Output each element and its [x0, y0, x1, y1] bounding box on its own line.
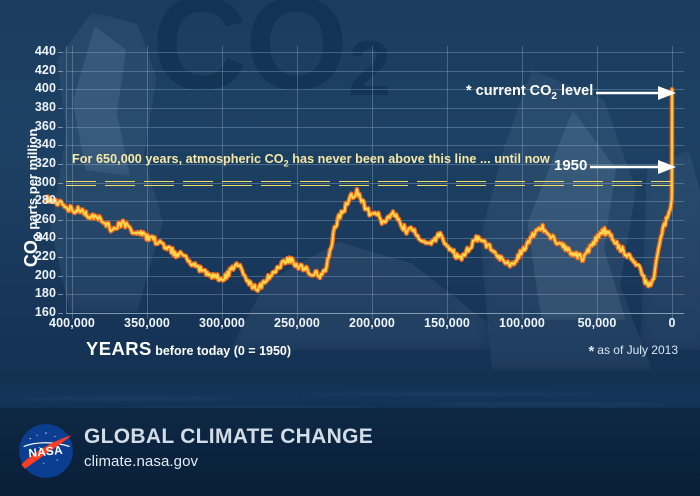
footer-background: [0, 408, 700, 496]
footer-title: GLOBAL CLIMATE CHANGE: [84, 425, 373, 449]
footnote-text: as of July 2013: [597, 343, 678, 357]
annotation-current-head: current CO: [472, 83, 552, 99]
threshold-dash-segment: [417, 181, 447, 186]
threshold-dash-segment: [183, 181, 213, 186]
y-axis-tick-mark: [58, 52, 63, 53]
annotation-current-tail: level: [557, 83, 593, 99]
y-axis-title-co2: CO2: [21, 233, 41, 267]
co2-line-outer-stroke: [47, 89, 673, 291]
footer-banner: NASA GLOBAL CLIMATE CHANGE climate.nasa.…: [0, 408, 700, 496]
threshold-dash-segment: [66, 181, 96, 186]
x-axis-tick-label: 300,000: [182, 316, 262, 330]
threshold-dash-segment: [378, 181, 408, 186]
x-axis-caption-sub: before today (0 = 1950): [152, 344, 291, 358]
x-axis-caption: YEARS before today (0 = 1950): [86, 338, 291, 360]
y-axis-tick-mark: [58, 276, 63, 277]
annotation-never-head: For 650,000 years, atmospheric CO: [72, 152, 284, 166]
x-axis-tick-label: 150,000: [407, 316, 487, 330]
threshold-dash-segment: [612, 181, 642, 186]
y-axis-tick-mark: [58, 164, 63, 165]
y-axis-tick-mark: [58, 71, 63, 72]
x-axis-tick-label: 350,000: [107, 316, 187, 330]
y-axis-tick-mark: [58, 257, 63, 258]
x-axis-tick-label: 200,000: [332, 316, 412, 330]
y-axis-tick-mark: [58, 145, 63, 146]
y-axis-tick-mark: [58, 127, 63, 128]
annotation-current-co2-level: * current CO2 level: [466, 83, 593, 102]
threshold-line-300ppm: [66, 181, 672, 186]
y-axis-title-units: parts per million: [25, 129, 40, 230]
x-axis-tick-label: 0: [632, 316, 700, 330]
x-axis-tick-label: 50,000: [557, 316, 637, 330]
wave-ripple: [430, 402, 670, 407]
annotation-1950-arrow: [590, 158, 676, 176]
annotation-1950-label: 1950: [554, 157, 587, 174]
threshold-dash-segment: [261, 181, 291, 186]
y-axis-tick-mark: [58, 108, 63, 109]
y-axis-tick-mark: [58, 294, 63, 295]
threshold-dash-segment: [534, 181, 564, 186]
threshold-dash-segment: [105, 181, 135, 186]
threshold-dash-segment: [222, 181, 252, 186]
annotation-never-above-line: For 650,000 years, atmospheric CO2 has n…: [72, 152, 550, 169]
threshold-dash-segment: [495, 181, 525, 186]
x-axis-tick-label: 100,000: [482, 316, 562, 330]
threshold-dash-segment: [456, 181, 486, 186]
y-axis-tick-mark: [58, 183, 63, 184]
annotation-current-arrow: [596, 84, 676, 102]
threshold-dash-segment: [573, 181, 603, 186]
footnote-star: *: [588, 343, 594, 360]
footnote-asof: *as of July 2013: [588, 341, 678, 358]
annotation-never-tail: has never been above this line ... until…: [289, 152, 550, 166]
y-axis-tick-mark: [58, 220, 63, 221]
y-axis-tick-mark: [58, 313, 63, 314]
x-axis-tick-label: 400,000: [32, 316, 112, 330]
y-axis-tick-mark: [58, 238, 63, 239]
y-axis-title: CO2 parts per million: [21, 88, 45, 308]
x-axis-caption-main: YEARS: [86, 338, 152, 359]
threshold-dash-segment: [651, 181, 672, 186]
nasa-meatball-logo: NASA: [18, 423, 74, 479]
y-axis-tick-mark: [58, 89, 63, 90]
threshold-dash-segment: [339, 181, 369, 186]
y-axis-tick-label: 440: [16, 44, 56, 58]
threshold-dash-segment: [300, 181, 330, 186]
x-axis-tick-label: 250,000: [257, 316, 337, 330]
threshold-dash-segment: [144, 181, 174, 186]
y-axis-tick-label: 420: [16, 63, 56, 77]
y-axis-tick-mark: [58, 201, 63, 202]
footer-url[interactable]: climate.nasa.gov: [84, 453, 198, 470]
nasa-co2-infographic: CO2 440420400380360340320300280260240220…: [0, 0, 700, 496]
